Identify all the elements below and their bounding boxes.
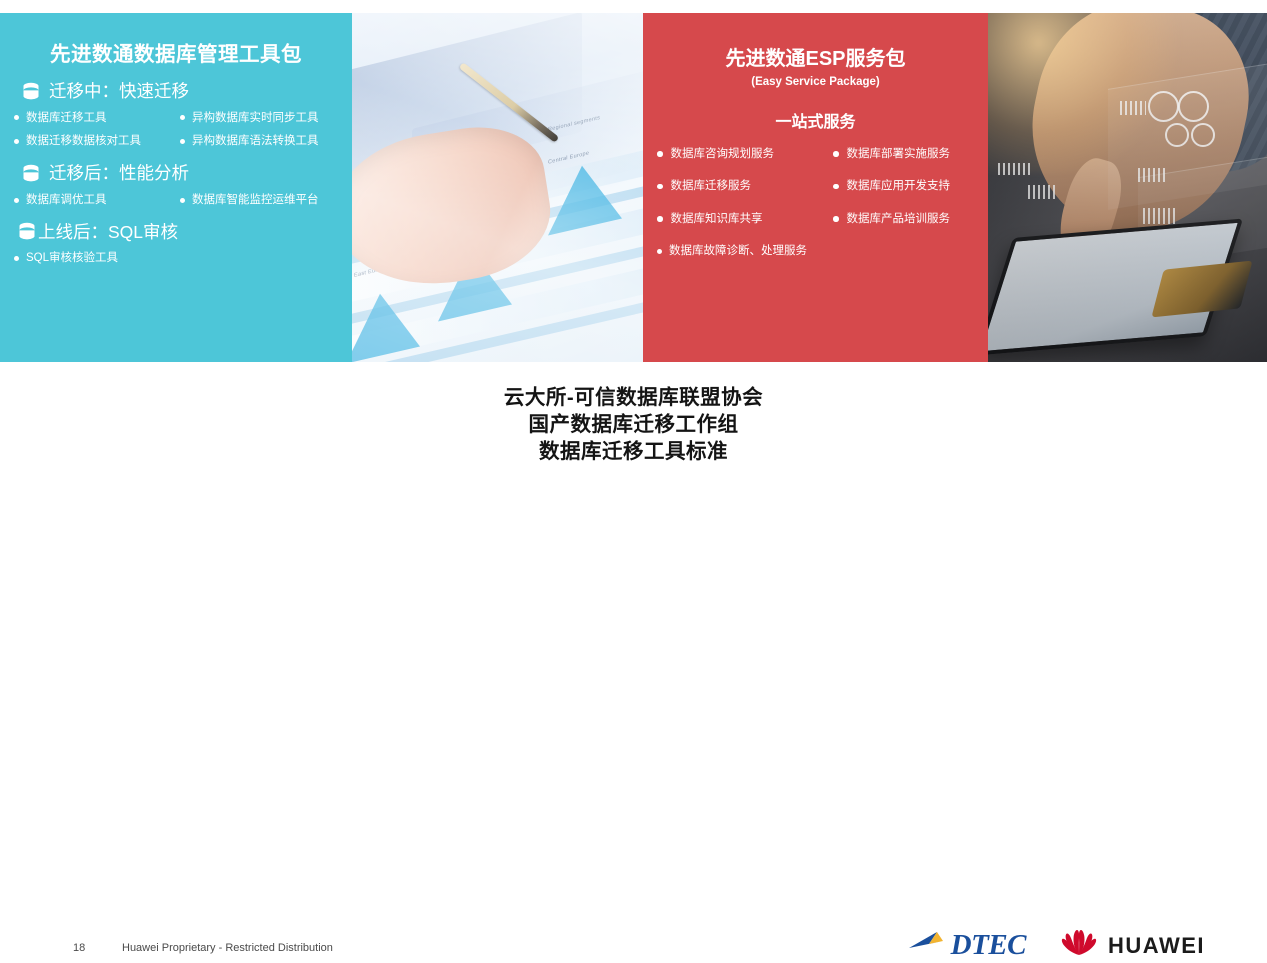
footer: 18 Huawei Proprietary - Restricted Distr… <box>0 458 1267 510</box>
bullet-dot-icon <box>657 216 663 222</box>
bullet-dot-icon <box>14 139 19 144</box>
red-panel-title: 先进数通ESP服务包 <box>643 13 988 69</box>
hud-ring-icon <box>1165 123 1189 147</box>
logo-group: DTEC HUAWEI <box>907 928 1205 963</box>
huawei-logo-text: HUAWEI <box>1108 935 1205 957</box>
hud-bar-chart-icon <box>1028 185 1058 199</box>
red-panel-section-heading: 一站式服务 <box>643 115 988 131</box>
list-item-label: 数据库智能监控运维平台 <box>192 194 319 207</box>
database-icon <box>22 82 40 102</box>
list-item: 异构数据库实时同步工具 <box>180 112 352 125</box>
list-item-label: 数据库产品培训服务 <box>847 213 951 226</box>
dtec-logo: DTEC <box>907 929 1026 962</box>
list-item: 数据库部署实施服务 <box>833 148 988 161</box>
red-last-bullet-row: 数据库故障诊断、处理服务 <box>657 245 988 258</box>
list-item-label: 异构数据库语法转换工具 <box>192 135 319 148</box>
database-icon <box>18 222 36 242</box>
red-panel: 先进数通ESP服务包 (Easy Service Package) 一站式服务 … <box>643 13 988 362</box>
page-number: 18 <box>73 942 85 954</box>
list-item: 数据库咨询规划服务 <box>657 148 833 161</box>
slide-root: 先进数通数据库管理工具包 迁移中：快速迁移 数据库迁移工具 异构数据库实时同步工… <box>0 0 1267 510</box>
huawei-flower-icon <box>1060 928 1098 963</box>
bullet-dot-icon <box>180 115 185 120</box>
teal-section-heading-1: 迁移中：快速迁移 <box>22 82 352 102</box>
list-item-label: 数据库故障诊断、处理服务 <box>669 245 807 258</box>
caption-line-2: 国产数据库迁移工作组 <box>0 411 1267 438</box>
list-item-label: 数据库迁移服务 <box>671 180 752 193</box>
bullet-dot-icon <box>180 198 185 203</box>
hud-ring-icon <box>1178 91 1209 122</box>
hud-bar-chart-icon <box>1120 101 1146 115</box>
list-item-label: 数据迁移数据核对工具 <box>26 135 141 148</box>
caption-block: 云大所-可信数据库联盟协会 国产数据库迁移工作组 数据库迁移工具标准 <box>0 384 1267 465</box>
database-icon <box>22 164 40 184</box>
finger-touching-tablet-photo <box>988 13 1267 362</box>
red-bullet-grid: 数据库咨询规划服务 数据库部署实施服务 数据库迁移服务 数据库应用开发支持 数据… <box>657 148 988 226</box>
red-panel-subtitle: (Easy Service Package) <box>643 77 988 89</box>
list-item-label: 数据库迁移工具 <box>26 112 107 125</box>
teal-panel: 先进数通数据库管理工具包 迁移中：快速迁移 数据库迁移工具 异构数据库实时同步工… <box>0 13 352 362</box>
hud-bar-chart-icon <box>998 163 1032 175</box>
teal-panel-title: 先进数通数据库管理工具包 <box>0 13 352 66</box>
bullet-dot-icon <box>657 249 662 254</box>
list-item: 数据库故障诊断、处理服务 <box>657 245 988 258</box>
teal-section-label-2: 迁移后：性能分析 <box>49 165 189 183</box>
teal-section-heading-2: 迁移后：性能分析 <box>22 164 352 184</box>
hud-ring-icon <box>1148 91 1179 122</box>
hud-bar-chart-icon <box>1143 208 1175 224</box>
hand-writing-over-charts-photo: Regional segments Central Europe West Eu… <box>352 13 643 362</box>
confidentiality-notice: Huawei Proprietary - Restricted Distribu… <box>122 942 333 954</box>
list-item: SQL审核核验工具 <box>14 252 352 265</box>
dtec-logo-text: DTEC <box>951 931 1026 960</box>
bullet-dot-icon <box>14 115 19 120</box>
banner-strip: 先进数通数据库管理工具包 迁移中：快速迁移 数据库迁移工具 异构数据库实时同步工… <box>0 13 1267 362</box>
teal-bullet-grid-1: 数据库迁移工具 异构数据库实时同步工具 数据迁移数据核对工具 异构数据库语法转换… <box>14 112 352 148</box>
hud-ring-icon <box>1191 123 1215 147</box>
bullet-dot-icon <box>657 184 663 190</box>
list-item-label: 数据库咨询规划服务 <box>671 148 775 161</box>
list-item-label: 数据库调优工具 <box>26 194 107 207</box>
caption-line-1: 云大所-可信数据库联盟协会 <box>0 384 1267 411</box>
hud-bar-chart-icon <box>1138 168 1168 182</box>
credit-card-shape <box>1151 261 1252 318</box>
list-item-label: 数据库应用开发支持 <box>847 180 951 193</box>
list-item: 数据库智能监控运维平台 <box>180 194 352 207</box>
dtec-arrow-icon <box>907 929 949 962</box>
list-item-label: SQL审核核验工具 <box>26 252 118 265</box>
bullet-dot-icon <box>833 184 839 190</box>
list-item: 数据库迁移工具 <box>14 112 180 125</box>
bullet-dot-icon <box>14 256 19 261</box>
bullet-dot-icon <box>657 151 663 157</box>
list-item: 数据库应用开发支持 <box>833 180 988 193</box>
list-item: 数据库迁移服务 <box>657 180 833 193</box>
bullet-dot-icon <box>833 216 839 222</box>
teal-section-label-3: 上线后：SQL审核 <box>38 224 178 242</box>
list-item: 异构数据库语法转换工具 <box>180 135 352 148</box>
list-item-label: 数据库部署实施服务 <box>847 148 951 161</box>
huawei-logo: HUAWEI <box>1060 928 1205 963</box>
bullet-dot-icon <box>833 151 839 157</box>
list-item-label: 数据库知识库共享 <box>671 213 763 226</box>
teal-section-label-1: 迁移中：快速迁移 <box>49 83 189 101</box>
bullet-dot-icon <box>14 198 19 203</box>
list-item-label: 异构数据库实时同步工具 <box>192 112 319 125</box>
teal-bullet-grid-2: 数据库调优工具 数据库智能监控运维平台 <box>14 194 352 207</box>
list-item: 数据库产品培训服务 <box>833 213 988 226</box>
list-item: 数据库知识库共享 <box>657 213 833 226</box>
list-item: 数据库调优工具 <box>14 194 180 207</box>
teal-section-heading-3: 上线后：SQL审核 <box>18 222 352 242</box>
teal-bullet-grid-3: SQL审核核验工具 <box>14 252 352 265</box>
bullet-dot-icon <box>180 139 185 144</box>
list-item: 数据迁移数据核对工具 <box>14 135 180 148</box>
